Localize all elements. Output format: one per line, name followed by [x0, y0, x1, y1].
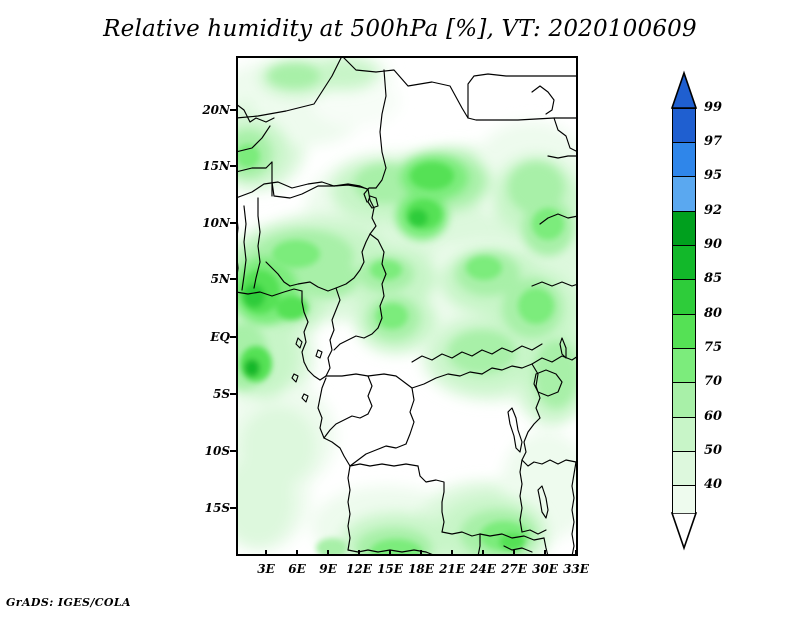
- x-tick-mark: [544, 550, 546, 556]
- colorbar-tick-label: 85: [704, 271, 722, 286]
- colorbar-tick-label: 80: [704, 306, 722, 321]
- x-tick-label: 9E: [312, 562, 344, 576]
- colorbar-top-arrow: [672, 73, 696, 108]
- colorbar-band: [672, 142, 696, 176]
- y-tick-mark: [230, 450, 236, 452]
- colorbar-band: [672, 245, 696, 279]
- y-tick-mark: [230, 507, 236, 509]
- y-tick-mark: [230, 109, 236, 111]
- colorbar-band: [672, 176, 696, 211]
- y-tick-label: EQ: [188, 330, 230, 344]
- colorbar-tick-label: 99: [704, 100, 722, 115]
- colorbar-band: [672, 417, 696, 451]
- colorbar-tick-label: 97: [704, 134, 722, 149]
- colorbar-band: [672, 279, 696, 314]
- y-tick-label: 15S: [188, 501, 230, 515]
- y-tick-mark: [230, 336, 236, 338]
- colorbar-band: [672, 211, 696, 245]
- y-tick-mark: [230, 393, 236, 395]
- colorbar: 99 97 95 92 90 85 80 75 70 60 50 40: [658, 60, 778, 560]
- y-tick-label: 10S: [188, 444, 230, 458]
- colorbar-tick-label: 90: [704, 237, 722, 252]
- colorbar-band: [672, 108, 696, 142]
- y-tick-label: 5S: [188, 387, 230, 401]
- y-tick-mark: [230, 278, 236, 280]
- colorbar-tick-label: 95: [704, 168, 722, 183]
- colorbar-band: [672, 314, 696, 348]
- x-tick-mark: [513, 550, 515, 556]
- map-panel: [236, 56, 578, 556]
- x-tick-mark: [358, 550, 360, 556]
- x-tick-mark: [420, 550, 422, 556]
- colorbar-band: [672, 485, 696, 513]
- y-tick-label: 15N: [188, 159, 230, 173]
- x-tick-mark: [389, 550, 391, 556]
- x-tick-label: 33E: [558, 562, 594, 576]
- colorbar-tick-label: 75: [704, 340, 722, 355]
- grads-plot-canvas: Relative humidity at 500hPa [%], VT: 202…: [0, 0, 800, 618]
- x-tick-mark: [327, 550, 329, 556]
- x-tick-label: 6E: [281, 562, 313, 576]
- x-tick-mark: [296, 550, 298, 556]
- colorbar-tick-label: 50: [704, 443, 722, 458]
- x-tick-label: 3E: [250, 562, 282, 576]
- attribution-text: GrADS: IGES/COLA: [6, 596, 131, 609]
- y-tick-mark: [230, 165, 236, 167]
- x-tick-mark: [575, 550, 577, 556]
- page-title: Relative humidity at 500hPa [%], VT: 202…: [0, 16, 800, 42]
- y-tick-label: 5N: [188, 272, 230, 286]
- colorbar-tick-label: 40: [704, 477, 722, 492]
- colorbar-tick-label: 70: [704, 374, 722, 389]
- x-tick-mark: [451, 550, 453, 556]
- y-tick-label: 20N: [188, 103, 230, 117]
- colorbar-band: [672, 382, 696, 417]
- y-tick-label: 10N: [188, 216, 230, 230]
- colorbar-bottom-arrow: [672, 513, 696, 548]
- y-tick-mark: [230, 222, 236, 224]
- x-tick-mark: [265, 550, 267, 556]
- x-tick-mark: [482, 550, 484, 556]
- map-frame: [236, 56, 578, 556]
- colorbar-band: [672, 451, 696, 485]
- colorbar-band: [672, 348, 696, 382]
- colorbar-tick-label: 60: [704, 409, 722, 424]
- colorbar-tick-label: 92: [704, 203, 722, 218]
